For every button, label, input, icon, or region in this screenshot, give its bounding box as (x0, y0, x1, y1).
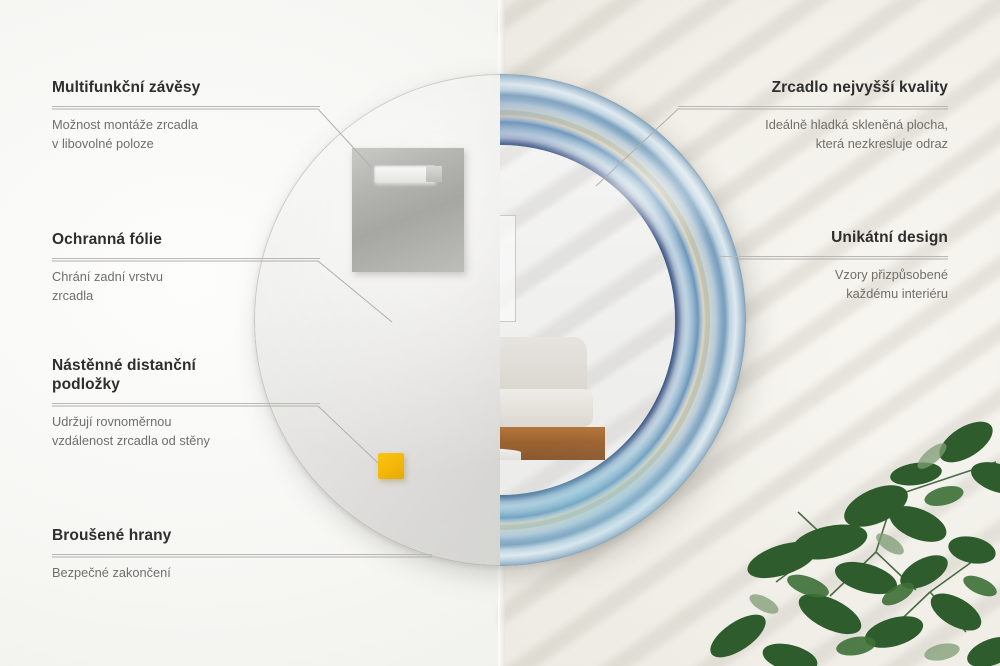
callout-multifunkcni-zavesy: Multifunkční závěsy Možnost montáže zrca… (52, 78, 320, 154)
infographic-canvas: Multifunkční závěsy Možnost montáže zrca… (0, 0, 1000, 666)
callout-ochranna-folie: Ochranná fólie Chrání zadní vrstvu zrcad… (52, 230, 320, 306)
reflected-sofa (500, 313, 605, 460)
foliage-decoration (680, 346, 1000, 666)
callout-title: Broušené hrany (52, 526, 432, 545)
callout-title: Ochranná fólie (52, 230, 320, 249)
callout-title: Multifunkční závěsy (52, 78, 320, 97)
callout-description: Vzory přizpůsobené každému interiéru (718, 266, 948, 303)
spacer-pad-icon (378, 453, 404, 479)
callout-title: Unikátní design (718, 228, 948, 247)
callout-brousene-hrany: Broušené hrany Bezpečné zakončení (52, 526, 432, 583)
mirror-product (254, 74, 746, 566)
callout-description: Chrání zadní vrstvu zrcadla (52, 268, 320, 305)
callout-description: Udržují rovnoměrnou vzdálenost zrcadla o… (52, 413, 320, 450)
callout-zrcadlo-nejvyssi-kvality: Zrcadlo nejvyšší kvality Ideálně hladká … (678, 78, 948, 154)
line-art-drawing (500, 216, 515, 320)
callout-rule (52, 554, 432, 555)
mirror-disc (254, 74, 746, 566)
framed-art-icon (500, 215, 516, 322)
callout-title: Nástěnné distanční podložky (52, 356, 320, 394)
mirror-glass-reflection (500, 145, 675, 494)
callout-description: Bezpečné zakončení (52, 564, 432, 583)
callout-rule (678, 106, 948, 107)
callout-rule (52, 258, 320, 259)
callout-nastenne-distancni-podlozky: Nástěnné distanční podložky Udržují rovn… (52, 356, 320, 451)
callout-description: Ideálně hladká skleněná plocha, která ne… (678, 116, 948, 153)
callout-description: Možnost montáže zrcadla v libovolné polo… (52, 116, 320, 153)
hanger-plate-icon (352, 148, 464, 272)
callout-unikatni-design: Unikátní design Vzory přizpůsobené každé… (718, 228, 948, 304)
sofa-seat-cushion (500, 389, 593, 427)
callout-rule (718, 256, 948, 257)
callout-rule (52, 403, 320, 404)
callout-title: Zrcadlo nejvyšší kvality (678, 78, 948, 97)
callout-rule (52, 106, 320, 107)
hanger-keyhole-slot (374, 165, 434, 182)
